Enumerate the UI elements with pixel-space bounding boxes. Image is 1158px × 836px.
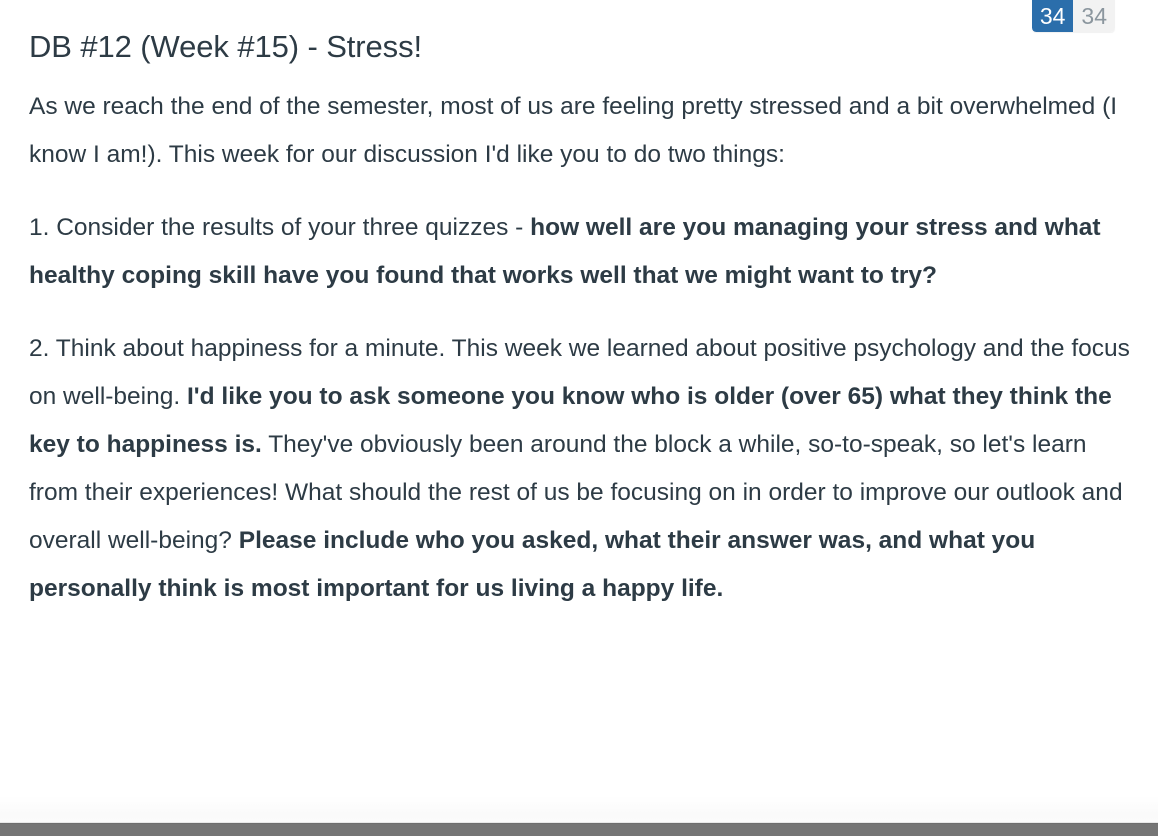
horizontal-scrollbar[interactable] bbox=[0, 823, 1158, 836]
post-content-scroll-area[interactable]: DB #12 (Week #15) - Stress! 34 34 As we … bbox=[0, 0, 1158, 822]
page-title: DB #12 (Week #15) - Stress! bbox=[29, 25, 422, 69]
post-paragraph-item-1: 1. Consider the results of your three qu… bbox=[29, 204, 1138, 300]
post-header-row: DB #12 (Week #15) - Stress! 34 34 bbox=[29, 0, 1138, 56]
post-paragraph-intro: As we reach the end of the semester, mos… bbox=[29, 83, 1138, 179]
post-paragraph-item-2: 2. Think about happiness for a minute. T… bbox=[29, 325, 1138, 613]
body-text: As we reach the end of the semester, mos… bbox=[29, 93, 1117, 168]
reply-count-badges: 34 34 bbox=[1032, 0, 1115, 32]
body-text: 1. Consider the results of your three qu… bbox=[29, 214, 530, 241]
content-bottom-fade bbox=[0, 796, 1158, 822]
total-count-badge[interactable]: 34 bbox=[1073, 0, 1115, 32]
discussion-post-page: DB #12 (Week #15) - Stress! 34 34 As we … bbox=[0, 0, 1158, 836]
unread-count-badge[interactable]: 34 bbox=[1032, 0, 1074, 32]
post-body: As we reach the end of the semester, mos… bbox=[29, 56, 1138, 613]
